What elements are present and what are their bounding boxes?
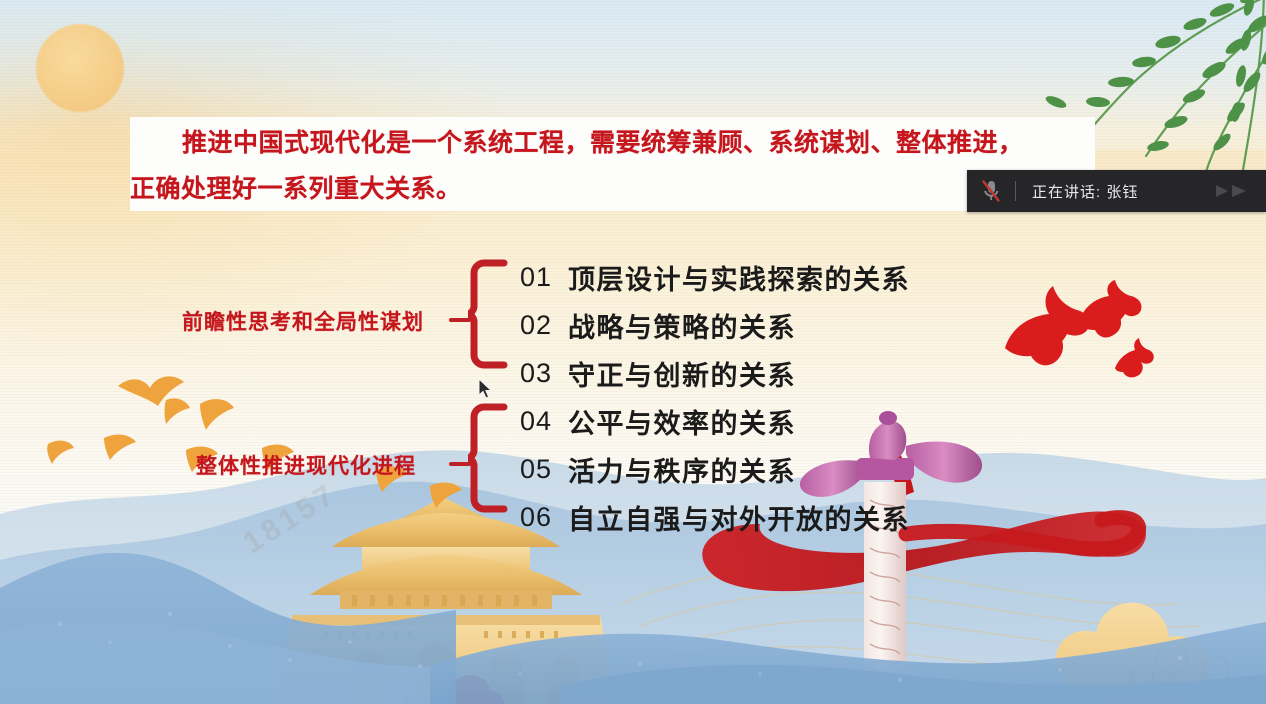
sun-icon bbox=[36, 24, 124, 112]
outline-item-02-text: 战略与策略的关系 bbox=[568, 306, 796, 345]
title-line-2: 正确处理好一系列重大关系。 bbox=[130, 175, 462, 203]
outline-item-04-text: 公平与效率的关系 bbox=[568, 402, 796, 441]
mouse-pointer-icon bbox=[478, 378, 494, 400]
outline-item-02[interactable]: 02 战略与策略的关系 bbox=[520, 306, 796, 345]
speaking-status-text: 正在讲话: 张钰 bbox=[1032, 181, 1138, 202]
outline-item-03[interactable]: 03 守正与创新的关系 bbox=[520, 354, 796, 393]
microphone-muted-icon[interactable] bbox=[967, 179, 1015, 203]
outline-item-03-text: 守正与创新的关系 bbox=[568, 354, 796, 393]
outline-item-06-number: 06 bbox=[520, 502, 552, 533]
outline-item-05[interactable]: 05 活力与秩序的关系 bbox=[520, 450, 796, 489]
double-chevron-icon[interactable] bbox=[1212, 181, 1252, 201]
outline-item-01-number: 01 bbox=[520, 262, 552, 293]
group-2-label: 整体性推进现代化进程 bbox=[196, 450, 416, 480]
group-2-brace-icon bbox=[468, 402, 508, 514]
group-1-brace-icon bbox=[468, 258, 508, 370]
outline-item-01-text: 顶层设计与实践探索的关系 bbox=[568, 258, 910, 297]
outline-item-05-number: 05 bbox=[520, 454, 552, 485]
outline-item-01[interactable]: 01 顶层设计与实践探索的关系 bbox=[520, 258, 910, 297]
page-title: 推进中国式现代化是一个系统工程，需要统筹兼顾、系统谋划、整体推进， 正确处理好一… bbox=[130, 120, 1098, 212]
outline-item-06[interactable]: 06 自立自强与对外开放的关系 bbox=[520, 498, 910, 537]
outline-item-03-number: 03 bbox=[520, 358, 552, 389]
speaking-status-bar[interactable]: 正在讲话: 张钰 bbox=[967, 170, 1266, 212]
toolbar-divider bbox=[1015, 181, 1016, 201]
slide-stage: 18157 推进中国式现代化是一个系统工程，需要统筹兼顾、系统谋划、整体推进， … bbox=[0, 0, 1266, 704]
outline-item-06-text: 自立自强与对外开放的关系 bbox=[568, 498, 910, 537]
title-line-1: 推进中国式现代化是一个系统工程，需要统筹兼顾、系统谋划、整体推进， bbox=[182, 129, 1024, 157]
outline-item-02-number: 02 bbox=[520, 310, 552, 341]
outline-item-04-number: 04 bbox=[520, 406, 552, 437]
red-dove-flock-icon bbox=[995, 272, 1160, 384]
outline-item-04[interactable]: 04 公平与效率的关系 bbox=[520, 402, 796, 441]
group-1-label: 前瞻性思考和全局性谋划 bbox=[182, 306, 424, 336]
outline-item-05-text: 活力与秩序的关系 bbox=[568, 450, 796, 489]
